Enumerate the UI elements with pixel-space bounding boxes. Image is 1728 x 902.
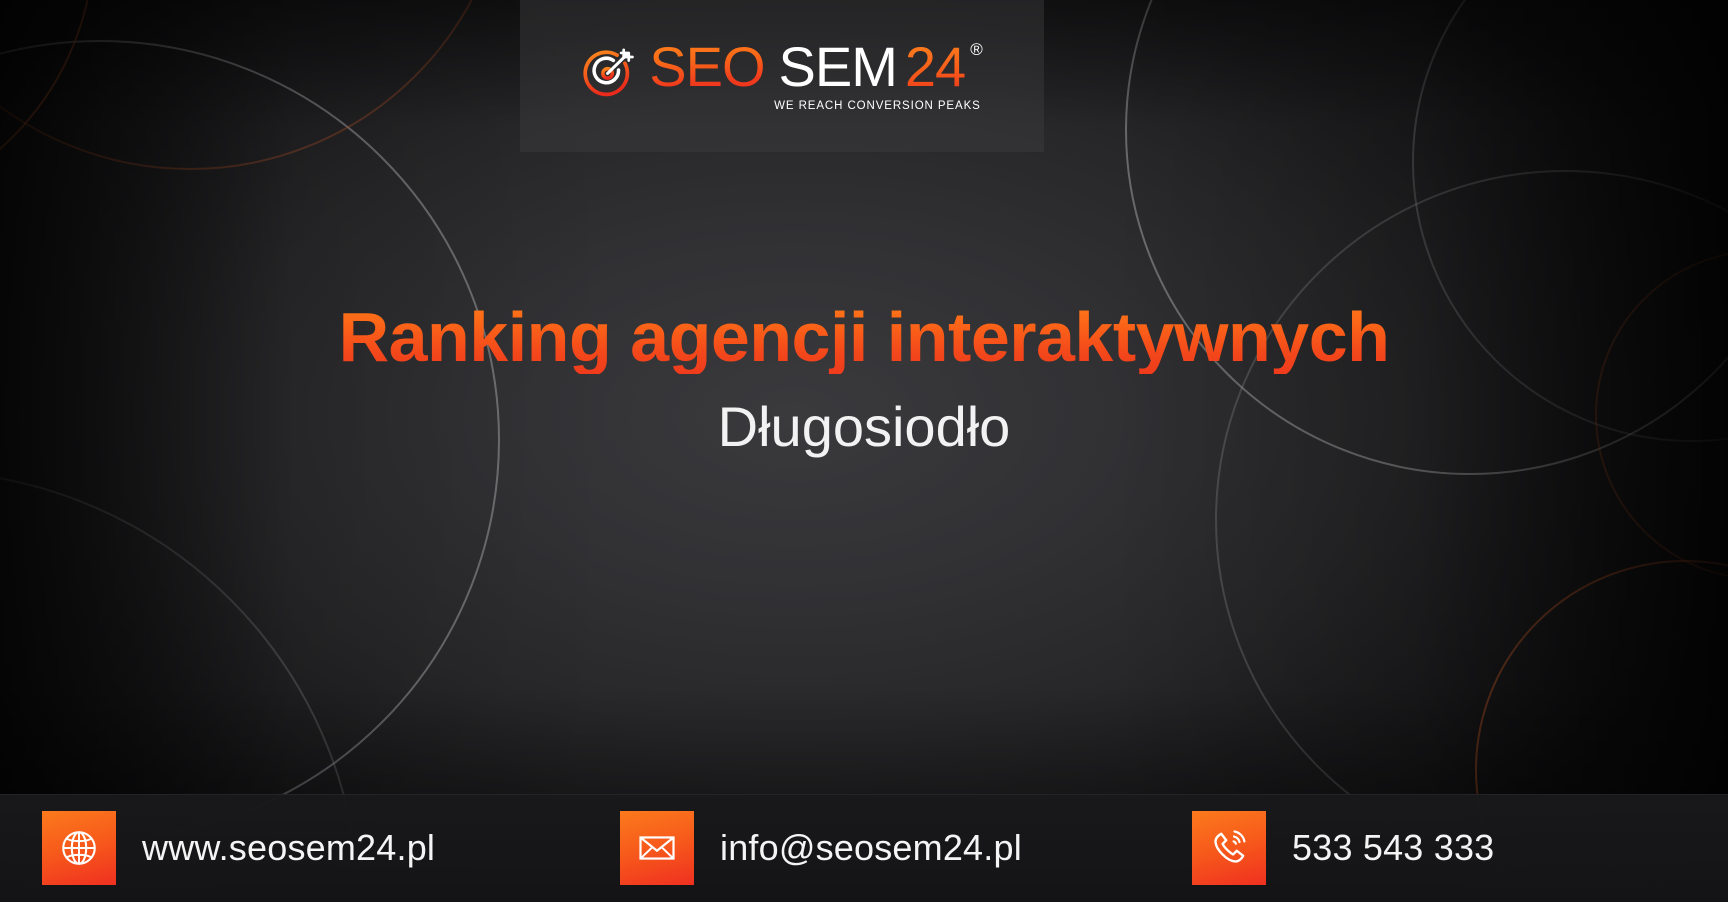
page-title: Ranking agencji interaktywnych [0,300,1728,374]
registered-mark-icon: ® [970,40,983,60]
phone-icon [1192,811,1266,885]
contact-text-email: info@seosem24.pl [720,827,1022,869]
contact-text-phone: 533 543 333 [1292,827,1494,869]
logo-wordmark: SEO SEM 24 ® WE REACH CONVERSION PEAKS [649,34,982,112]
logo-tagline: WE REACH CONVERSION PEAKS [649,100,982,112]
brand-logo: SEO SEM 24 ® WE REACH CONVERSION PEAKS [581,34,982,112]
globe-icon [42,811,116,885]
logo-text-sem: SEM [779,34,897,99]
contact-footer: www.seosem24.pl info@seosem24.pl [0,794,1728,902]
logo-wordmark-top: SEO SEM 24 ® [649,34,982,99]
contact-text-website: www.seosem24.pl [142,827,435,869]
hero-block: Ranking agencji interaktywnych Długosiod… [0,300,1728,458]
page-subtitle: Długosiodło [0,396,1728,458]
slide-canvas: SEO SEM 24 ® WE REACH CONVERSION PEAKS R… [0,0,1728,902]
contact-item-phone[interactable]: 533 543 333 [1192,811,1494,885]
target-dart-icon [581,46,635,100]
envelope-icon [620,811,694,885]
logo-panel: SEO SEM 24 ® WE REACH CONVERSION PEAKS [520,0,1044,152]
logo-text-24: 24 [905,34,965,99]
contact-item-email[interactable]: info@seosem24.pl [620,811,1022,885]
logo-text-seo: SEO [649,34,764,99]
contact-item-website[interactable]: www.seosem24.pl [42,811,435,885]
